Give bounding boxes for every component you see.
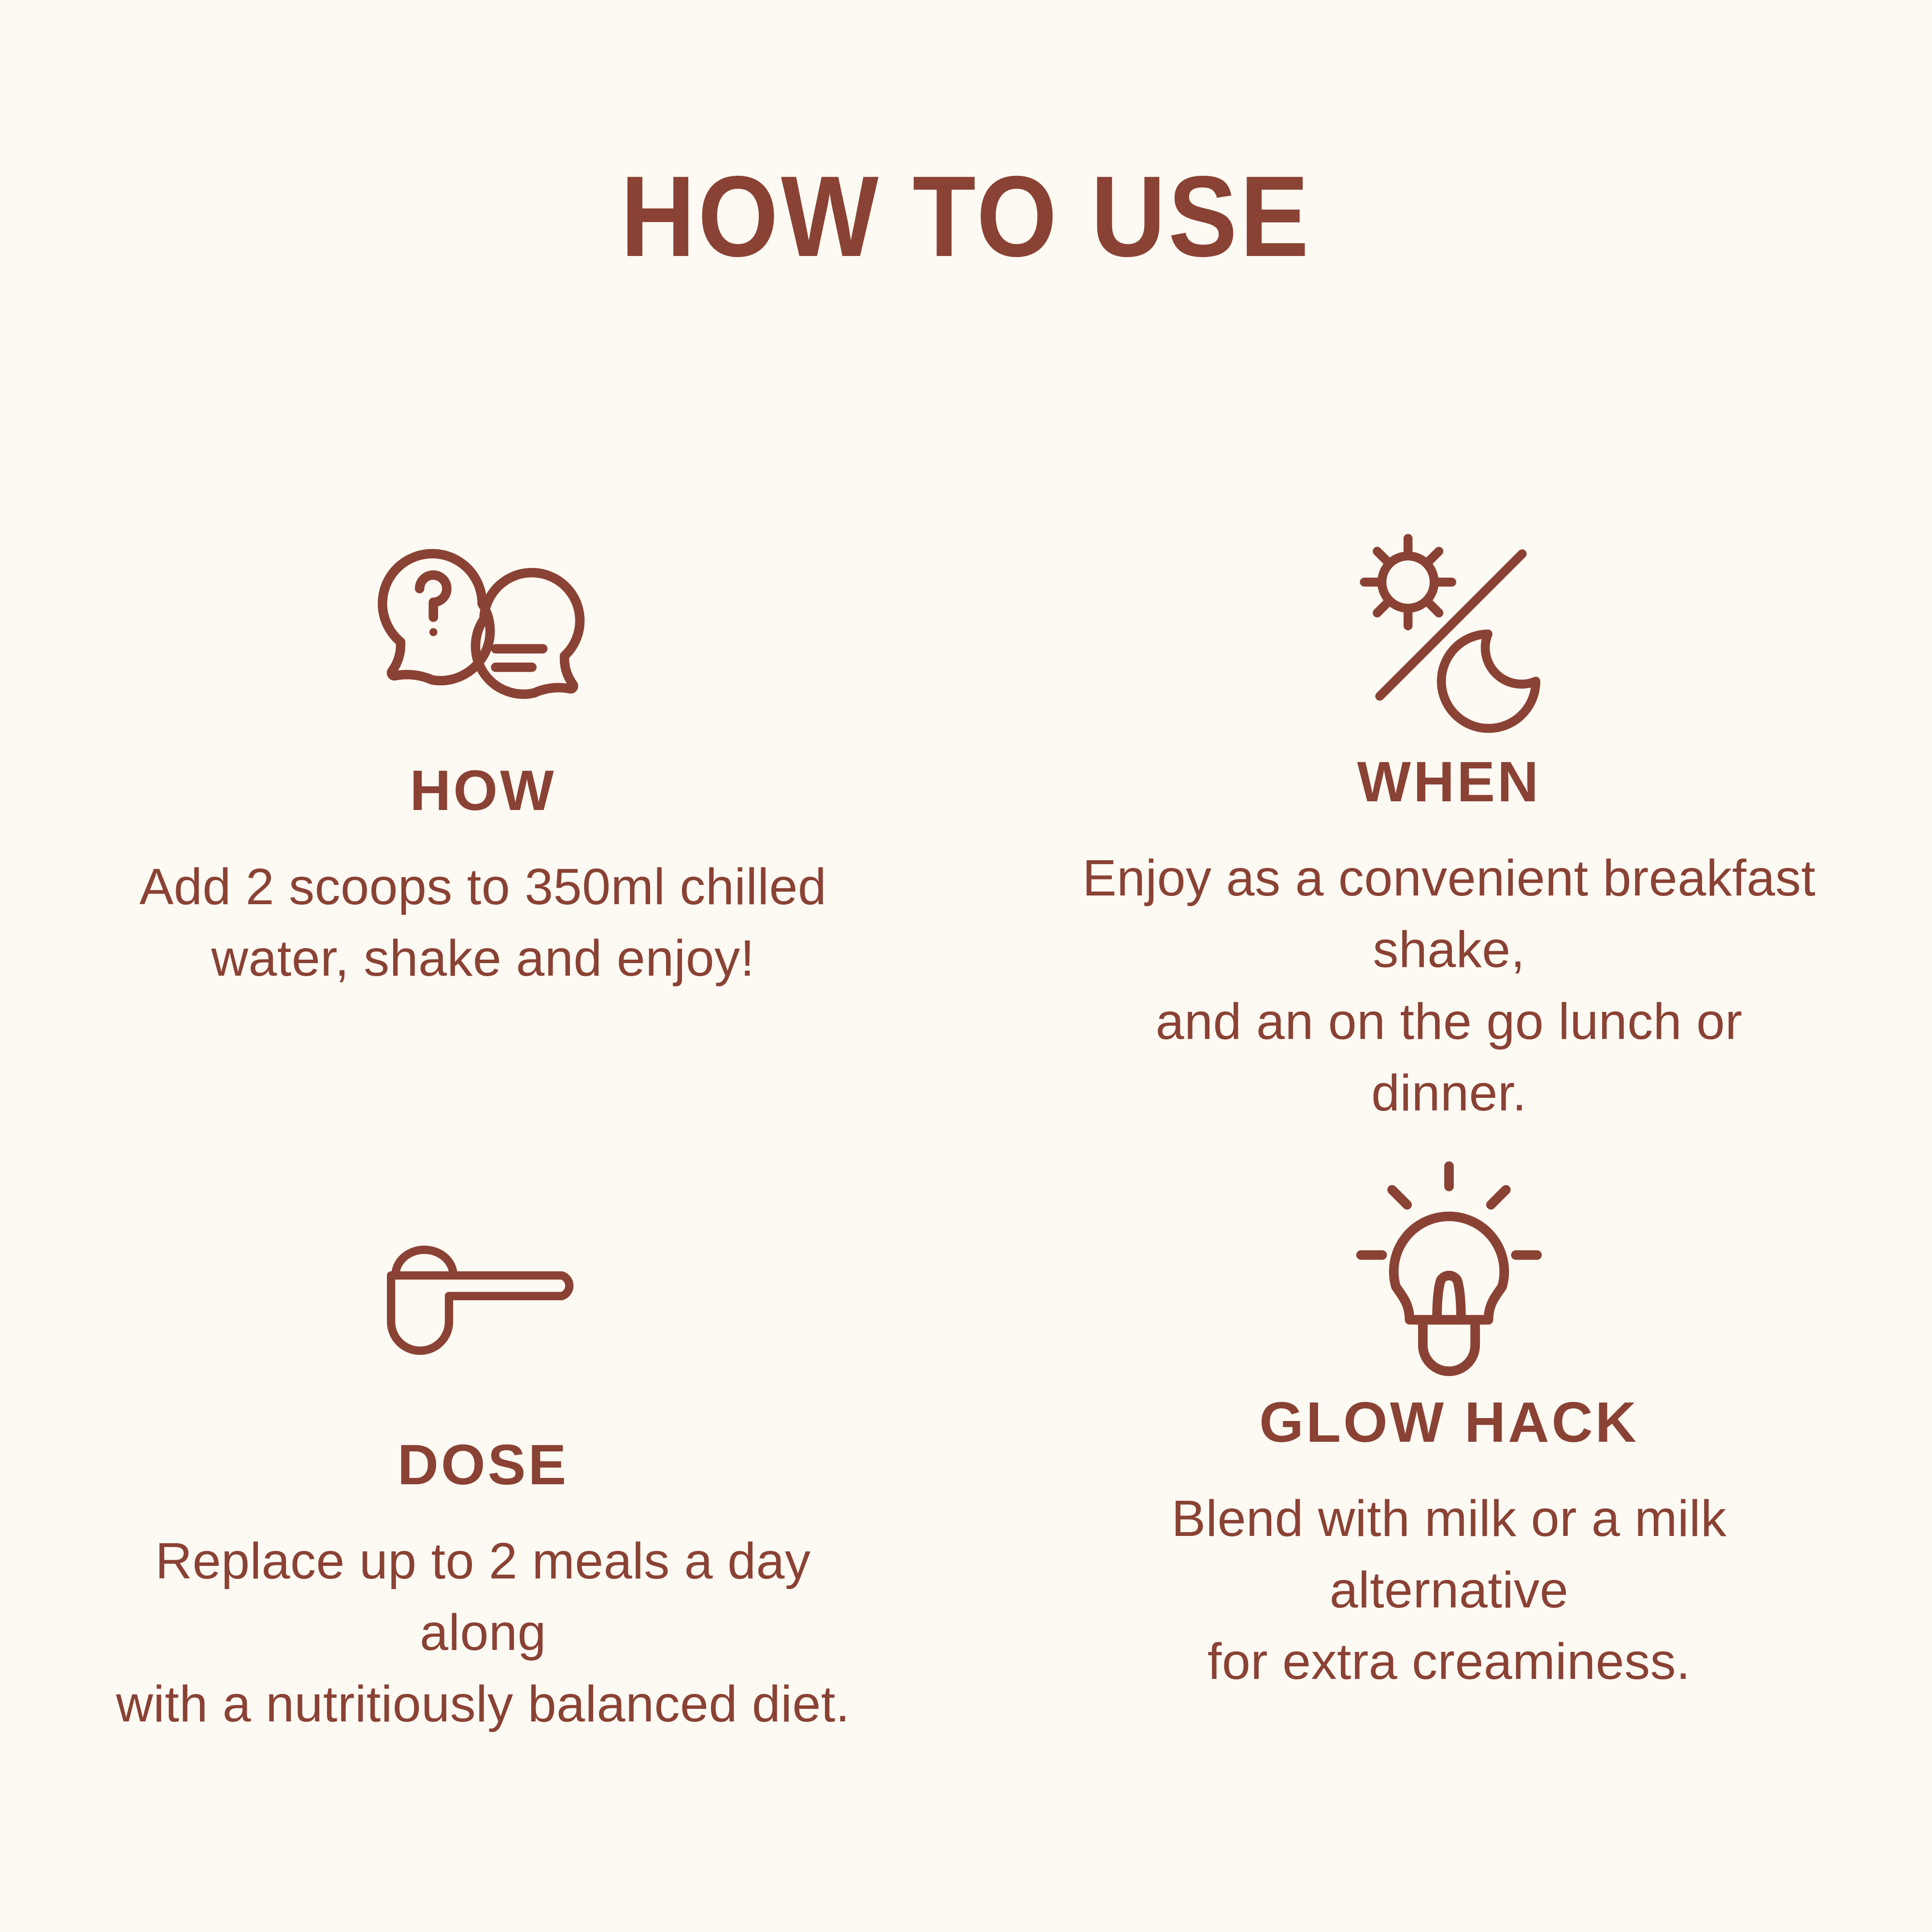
card-heading: WHEN: [1357, 753, 1541, 810]
card-body: Blend with milk or a milk alternative fo…: [1082, 1483, 1816, 1698]
page-title: HOW TO USE: [97, 159, 1835, 274]
how-to-use-poster: HOW TO USE HOW Add 2 s: [0, 0, 1932, 1932]
sun-moon-day-night-icon: [1348, 493, 1550, 753]
card-body-line: for extra creaminess.: [1082, 1626, 1816, 1697]
card-body-line: water, shake and enjoy!: [140, 923, 827, 994]
card-body-line: Blend with milk or a milk alternative: [1082, 1483, 1816, 1626]
card-body-line: Add 2 scoops to 350ml chilled: [140, 851, 827, 923]
card-body: Enjoy as a convenient breakfast shake, a…: [1082, 842, 1816, 1129]
instruction-card-grid: HOW Add 2 scoops to 350ml chilled water,…: [0, 493, 1932, 1729]
instruction-card-when: WHEN Enjoy as a convenient breakfast sha…: [966, 493, 1932, 1129]
instruction-card-how: HOW Add 2 scoops to 350ml chilled water,…: [0, 493, 966, 1129]
measuring-scoop-icon: [382, 1129, 584, 1436]
instruction-card-dose: DOSE Replace up to 2 meals a day along w…: [0, 1129, 966, 1740]
card-body-line: Enjoy as a convenient breakfast shake,: [1082, 842, 1816, 986]
card-heading: GLOW HACK: [1259, 1394, 1639, 1451]
card-body-line: and an on the go lunch or dinner.: [1082, 986, 1816, 1129]
card-body-line: Replace up to 2 meals a day along: [116, 1525, 850, 1669]
card-heading: HOW: [410, 762, 556, 819]
card-body: Replace up to 2 meals a day along with a…: [116, 1525, 850, 1740]
card-body: Add 2 scoops to 350ml chilled water, sha…: [140, 851, 827, 994]
card-heading: DOSE: [398, 1436, 568, 1493]
speech-bubbles-question-answer-icon: [382, 493, 584, 762]
card-body-line: with a nutritiously balanced diet.: [116, 1668, 850, 1740]
instruction-card-glow-hack: GLOW HACK Blend with milk or a milk alte…: [966, 1129, 1932, 1740]
lightbulb-idea-icon: [1351, 1129, 1547, 1394]
